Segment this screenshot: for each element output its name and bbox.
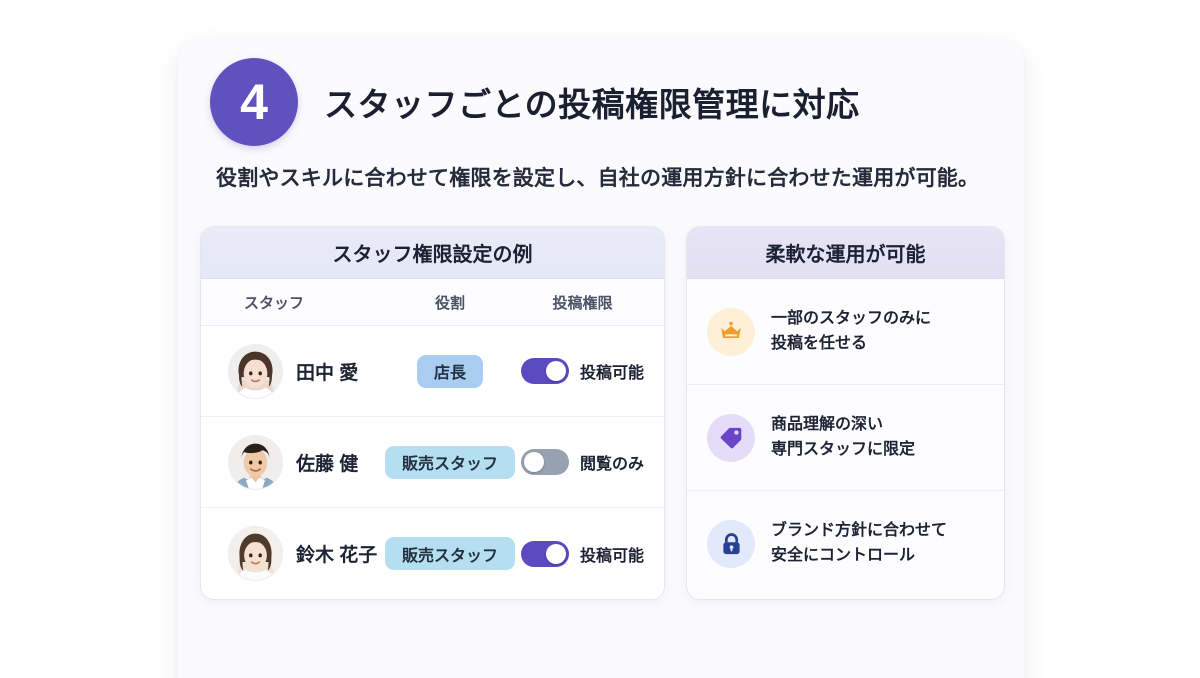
- flexible-operation-panel: 柔軟な運用が可能 一部のスタッフのみに 投稿を任せる: [686, 226, 1005, 600]
- slide-card: 4 スタッフごとの投稿権限管理に対応 役割やスキルに合わせて権限を設定し、自社の…: [178, 40, 1024, 678]
- staff-cell: 田中 愛: [215, 344, 385, 399]
- column-header-staff: スタッフ: [215, 292, 385, 313]
- role-cell: 販売スタッフ: [385, 537, 515, 570]
- staff-cell: 鈴木 花子: [215, 526, 385, 581]
- column-header-role: 役割: [385, 292, 515, 313]
- slide-canvas: 4 スタッフごとの投稿権限管理に対応 役割やスキルに合わせて権限を設定し、自社の…: [0, 0, 1200, 678]
- permission-toggle[interactable]: [521, 541, 569, 567]
- staff-name: 佐藤 健: [296, 449, 358, 476]
- staff-table-header: スタッフ 役割 投稿権限: [201, 279, 664, 326]
- avatar: [228, 526, 283, 581]
- feature-line-1: 一部のスタッフのみに: [771, 307, 931, 332]
- step-number: 4: [240, 77, 268, 127]
- feature-line-1: ブランド方針に合わせて: [771, 519, 947, 544]
- table-row[interactable]: 佐藤 健 販売スタッフ 閲覧のみ: [201, 417, 664, 508]
- feature-line-1: 商品理解の深い: [771, 413, 915, 438]
- feature-text: 一部のスタッフのみに 投稿を任せる: [771, 307, 931, 357]
- list-item: 一部のスタッフのみに 投稿を任せる: [687, 279, 1004, 385]
- role-badge: 販売スタッフ: [385, 446, 515, 479]
- feature-line-2: 安全にコントロール: [771, 544, 947, 569]
- feature-text: 商品理解の深い 専門スタッフに限定: [771, 413, 915, 463]
- staff-permission-panel: スタッフ権限設定の例 スタッフ 役割 投稿権限: [200, 226, 665, 600]
- toggle-knob: [524, 452, 544, 472]
- feature-line-2: 専門スタッフに限定: [771, 438, 915, 463]
- avatar: [228, 344, 283, 399]
- crown-icon: [707, 308, 755, 356]
- role-badge: 販売スタッフ: [385, 537, 515, 570]
- permission-cell: 投稿可能: [515, 358, 650, 384]
- permission-toggle[interactable]: [521, 358, 569, 384]
- permission-toggle[interactable]: [521, 449, 569, 475]
- staff-cell: 佐藤 健: [215, 435, 385, 490]
- list-item: ブランド方針に合わせて 安全にコントロール: [687, 491, 1004, 597]
- role-cell: 販売スタッフ: [385, 446, 515, 479]
- slide-header: 4 スタッフごとの投稿権限管理に対応: [210, 58, 860, 146]
- flexible-panel-header: 柔軟な運用が可能: [687, 227, 1004, 279]
- permission-label: 投稿可能: [580, 359, 644, 383]
- page-subtitle: 役割やスキルに合わせて権限を設定し、自社の運用方針に合わせた運用が可能。: [216, 162, 979, 192]
- toggle-knob: [546, 544, 566, 564]
- permission-cell: 閲覧のみ: [515, 449, 650, 475]
- step-number-badge: 4: [210, 58, 298, 146]
- table-row[interactable]: 田中 愛 店長 投稿可能: [201, 326, 664, 417]
- feature-line-2: 投稿を任せる: [771, 332, 931, 357]
- panels-container: スタッフ権限設定の例 スタッフ 役割 投稿権限: [200, 226, 1005, 600]
- tag-icon: [707, 414, 755, 462]
- avatar: [228, 435, 283, 490]
- permission-cell: 投稿可能: [515, 541, 650, 567]
- page-title: スタッフごとの投稿権限管理に対応: [324, 78, 860, 126]
- permission-label: 投稿可能: [580, 542, 644, 566]
- list-item: 商品理解の深い 専門スタッフに限定: [687, 385, 1004, 491]
- role-cell: 店長: [385, 355, 515, 388]
- feature-text: ブランド方針に合わせて 安全にコントロール: [771, 519, 947, 569]
- column-header-permission: 投稿権限: [515, 292, 650, 313]
- staff-panel-header: スタッフ権限設定の例: [201, 227, 664, 279]
- role-badge: 店長: [417, 355, 483, 388]
- table-row[interactable]: 鈴木 花子 販売スタッフ 投稿可能: [201, 508, 664, 599]
- permission-label: 閲覧のみ: [580, 450, 644, 474]
- staff-name: 田中 愛: [296, 358, 358, 385]
- toggle-knob: [546, 361, 566, 381]
- lock-icon: [707, 520, 755, 568]
- staff-name: 鈴木 花子: [296, 540, 377, 567]
